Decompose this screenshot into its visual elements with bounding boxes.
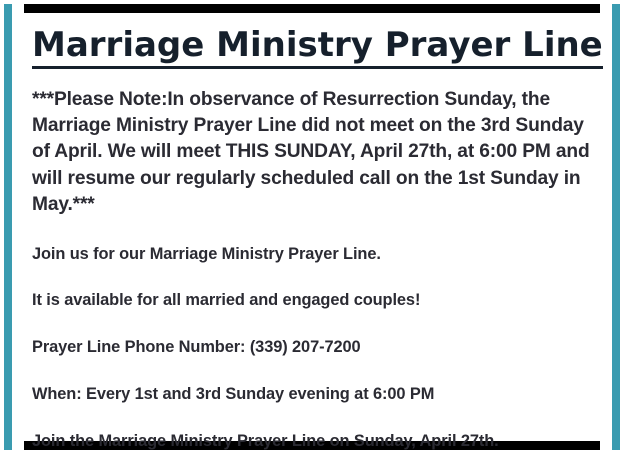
eligibility-line: It is available for all married and enga… [32,291,592,310]
right-accent-bar [612,4,620,450]
flyer-content: Marriage Ministry Prayer Line ***Please … [12,13,612,441]
invitation-line: Join us for our Marriage Ministry Prayer… [32,245,592,264]
phone-number-line: Prayer Line Phone Number: (339) 207-7200 [32,338,592,357]
left-accent-bar [4,4,12,450]
announcement-note: ***Please Note:In observance of Resurrec… [32,87,592,218]
top-rule-bar [24,4,600,13]
flyer-card: Marriage Ministry Prayer Line ***Please … [0,0,624,454]
page-title: Marriage Ministry Prayer Line [32,26,603,69]
next-meeting-line: Join the Marriage Ministry Prayer Line o… [32,432,592,451]
schedule-line: When: Every 1st and 3rd Sunday evening a… [32,385,592,404]
